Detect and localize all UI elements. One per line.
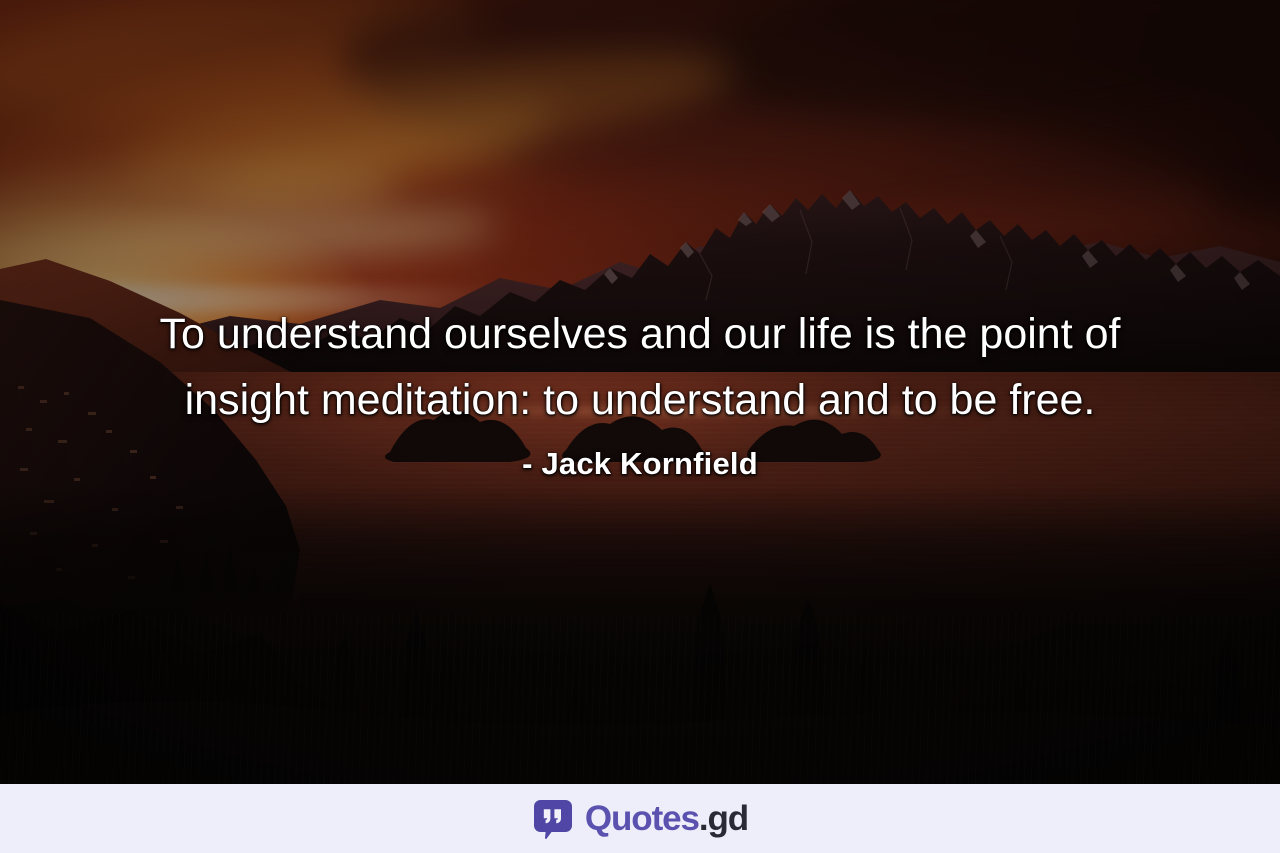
brand-wordmark: Quotes.gd	[585, 800, 748, 838]
quote-author: - Jack Kornfield	[522, 445, 758, 483]
quote-bubble-icon	[532, 798, 574, 840]
brand-tld: .gd	[699, 799, 748, 838]
footer-bar: Quotes.gd	[0, 784, 1280, 853]
quote-text: To understand ourselves and our life is …	[100, 301, 1180, 433]
background-photo: To understand ourselves and our life is …	[0, 0, 1280, 784]
quote-card: To understand ourselves and our life is …	[0, 0, 1280, 853]
quote-block: To understand ourselves and our life is …	[0, 0, 1280, 784]
brand-logo-link[interactable]: Quotes.gd	[532, 798, 748, 840]
brand-name: Quotes	[585, 799, 699, 838]
